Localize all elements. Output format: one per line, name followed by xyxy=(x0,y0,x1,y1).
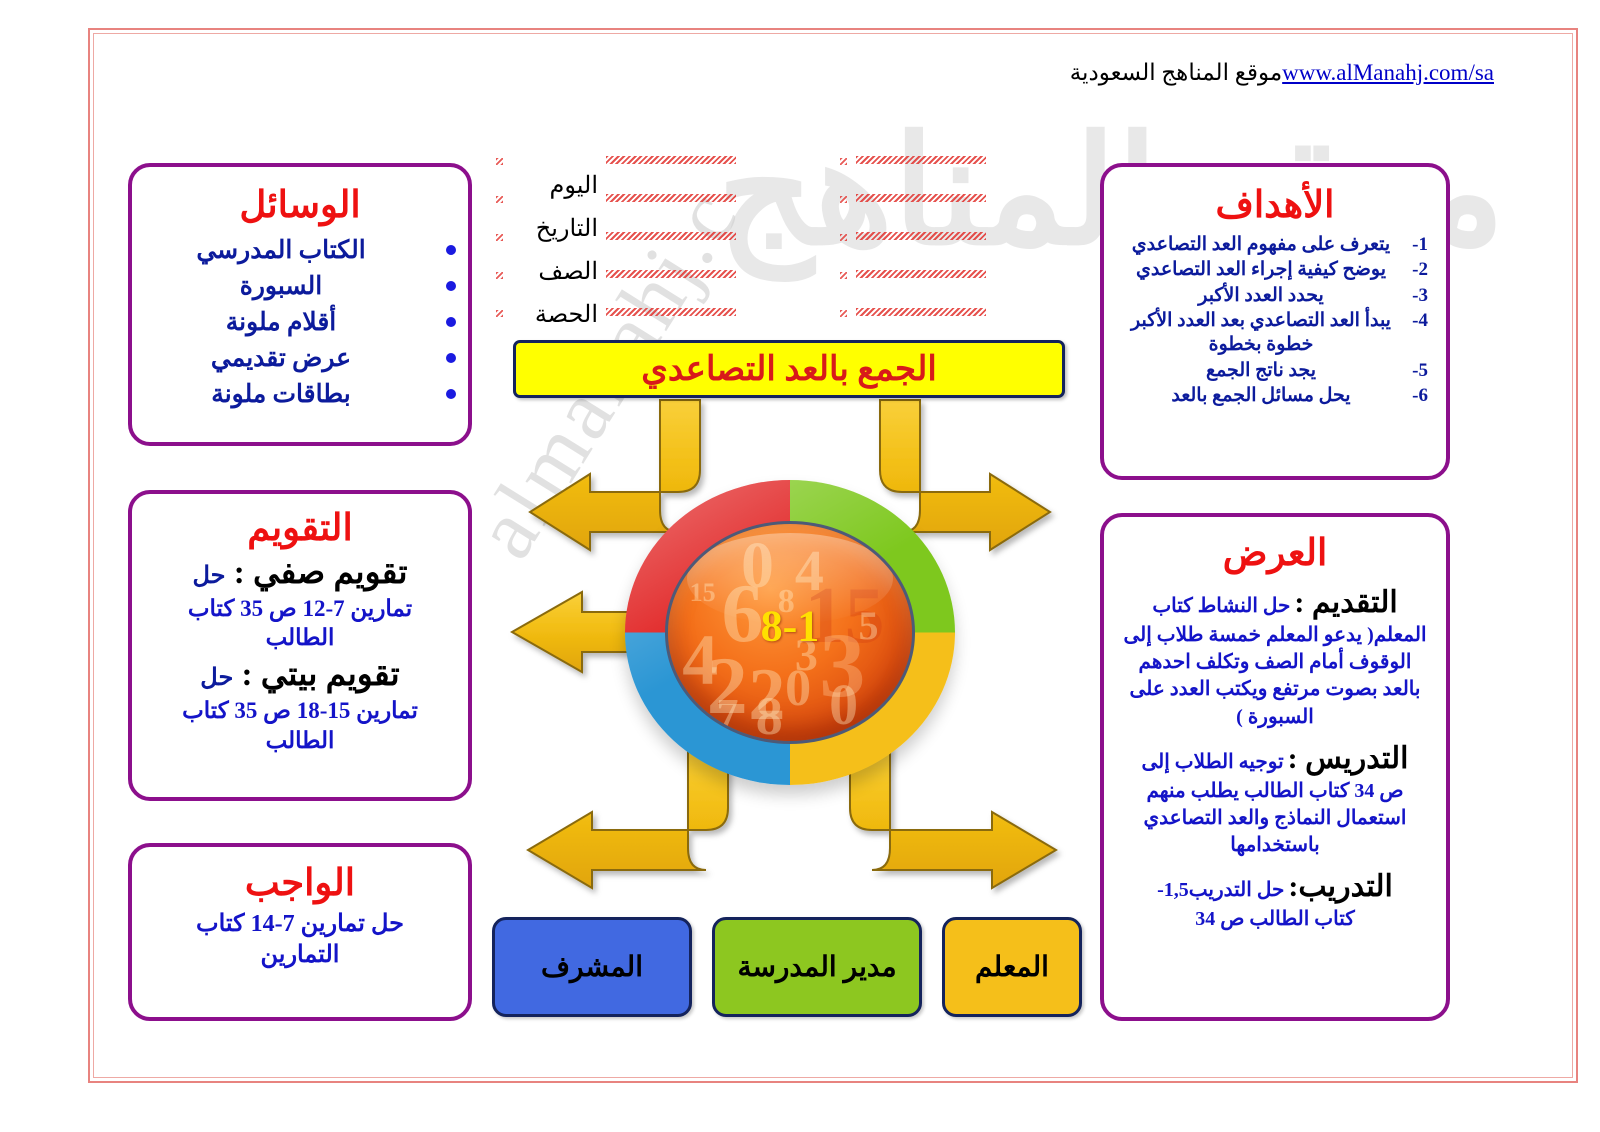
assessment-class-solve: حل xyxy=(192,563,225,589)
list-item: -2يوضح كيفية إجراء العد التصاعدي xyxy=(1126,258,1428,282)
assessment-class-detail: تمارين 7-12 ص 35 كتاب الطالب xyxy=(132,594,468,653)
objective-number: -5 xyxy=(1406,359,1428,383)
objective-number: -4 xyxy=(1406,309,1428,358)
objective-number: -6 xyxy=(1406,384,1428,408)
list-item: -5يجد ناتج الجمع xyxy=(1126,359,1428,383)
bullet-icon xyxy=(446,389,456,399)
objective-number: -1 xyxy=(1406,233,1428,257)
assessment-box: التقويم تقويم صفي : حل تمارين 7-12 ص 35 … xyxy=(128,490,472,801)
presentation-teaching-label: التدريس : xyxy=(1288,742,1409,775)
objective-text: يحدد العدد الأكبر xyxy=(1126,284,1396,308)
material-label: بطاقات ملونة xyxy=(211,381,350,408)
bullet-icon xyxy=(446,281,456,291)
presentation-title: العرض xyxy=(1104,531,1446,575)
list-item: السبورة xyxy=(132,269,430,305)
objective-text: يتعرف على مفهوم العد التصاعدي xyxy=(1126,233,1396,257)
lesson-form-labels: اليوم التاريخ الصف الحصة xyxy=(535,165,598,337)
presentation-practice-label: التدريب: xyxy=(1288,870,1393,903)
form-label-date: التاريخ xyxy=(535,208,598,251)
bullet-icon xyxy=(446,317,456,327)
site-label: موقع المناهج السعودية xyxy=(1070,60,1282,85)
objectives-box: الأهداف -1يتعرف على مفهوم العد التصاعدي … xyxy=(1100,163,1450,480)
presentation-teaching-value: توجيه الطلاب إلى xyxy=(1141,751,1283,773)
lesson-number-sphere: 0 4 15 6 8 15 4 3 2 2 0 3 8 7 0 5 8-1 xyxy=(625,480,955,785)
signature-supervisor-label: المشرف xyxy=(541,950,643,984)
list-item: -6يحل مسائل الجمع بالعد xyxy=(1126,384,1428,408)
objective-number: -2 xyxy=(1406,258,1428,282)
signature-principal[interactable]: مدير المدرسة xyxy=(712,917,922,1017)
bullet-icon xyxy=(446,245,456,255)
presentation-intro-body: المعلم( يدعو المعلم خمسة طلاب إلى الوقوف… xyxy=(1120,622,1430,731)
objective-number: -3 xyxy=(1406,284,1428,308)
assessment-class-label: تقويم صفي : xyxy=(234,555,408,591)
material-label: عرض تقديمي xyxy=(211,345,351,372)
list-item: الكتاب المدرسي xyxy=(132,233,430,269)
form-label-grade: الصف xyxy=(535,251,598,294)
sphere-lesson-number: 8-1 xyxy=(668,600,913,651)
presentation-teaching-body: ص 34 كتاب الطالب يطلب منهم استعمال النما… xyxy=(1120,778,1430,860)
list-item: عرض تقديمي xyxy=(132,341,430,377)
presentation-teaching: التدريس : توجيه الطلاب إلى ص 34 كتاب الط… xyxy=(1104,741,1446,860)
sphere-core: 0 4 15 6 8 15 4 3 2 2 0 3 8 7 0 5 8-1 xyxy=(665,521,916,744)
assessment-home-label: تقويم بيتي : xyxy=(242,657,400,693)
site-header: www.alManahj.com/saموقع المناهج السعودية xyxy=(1070,60,1500,86)
form-label-period: الحصة xyxy=(535,294,598,337)
assessment-home-heading: تقويم بيتي : حل xyxy=(132,656,468,696)
presentation-practice-value: حل التدريب1,5- xyxy=(1157,879,1284,901)
objective-text: يحل مسائل الجمع بالعد xyxy=(1126,384,1396,408)
presentation-practice-body: كتاب الطالب ص 34 xyxy=(1120,906,1430,933)
signature-teacher-label: المعلم xyxy=(975,950,1049,984)
presentation-intro-value: حل النشاط كتاب xyxy=(1152,595,1290,617)
site-url-link[interactable]: www.alManahj.com/sa xyxy=(1282,60,1494,86)
lesson-title-text: الجمع بالعد التصاعدي xyxy=(641,349,937,389)
lesson-title-banner: الجمع بالعد التصاعدي xyxy=(513,340,1065,398)
material-label: أقلام ملونة xyxy=(226,309,337,336)
objective-text: يجد ناتج الجمع xyxy=(1126,359,1396,383)
assessment-class: تقويم صفي : حل تمارين 7-12 ص 35 كتاب الط… xyxy=(132,554,468,652)
list-item: -4يبدأ العد التصاعدي بعد العدد الأكبر خط… xyxy=(1126,309,1428,358)
presentation-practice: التدريب: حل التدريب1,5- كتاب الطالب ص 34 xyxy=(1104,869,1446,933)
list-item: -1يتعرف على مفهوم العد التصاعدي xyxy=(1126,233,1428,257)
form-label-day: اليوم xyxy=(535,165,598,208)
objectives-list: -1يتعرف على مفهوم العد التصاعدي -2يوضح ك… xyxy=(1104,233,1446,408)
assessment-title: التقويم xyxy=(132,506,468,550)
material-label: السبورة xyxy=(240,273,323,300)
presentation-box: العرض التقديم : حل النشاط كتاب المعلم( ي… xyxy=(1100,513,1450,1021)
list-item: بطاقات ملونة xyxy=(132,377,430,413)
homework-body: حل تمارين 7-14 كتاب التمارين xyxy=(132,905,468,971)
materials-box: الوسائل الكتاب المدرسي السبورة أقلام ملو… xyxy=(128,163,472,446)
signature-principal-label: مدير المدرسة xyxy=(737,950,896,984)
bullet-icon xyxy=(446,353,456,363)
presentation-intro: التقديم : حل النشاط كتاب المعلم( يدعو ال… xyxy=(1104,585,1446,731)
objectives-title: الأهداف xyxy=(1104,183,1446,227)
assessment-home-detail: تمارين 15-18 ص 35 كتاب الطالب xyxy=(132,696,468,755)
objective-text: يوضح كيفية إجراء العد التصاعدي xyxy=(1126,258,1396,282)
materials-list: الكتاب المدرسي السبورة أقلام ملونة عرض ت… xyxy=(132,233,468,413)
homework-title: الواجب xyxy=(132,861,468,905)
assessment-class-heading: تقويم صفي : حل xyxy=(132,554,468,594)
assessment-home: تقويم بيتي : حل تمارين 15-18 ص 35 كتاب ا… xyxy=(132,656,468,754)
materials-title: الوسائل xyxy=(132,183,468,227)
signature-teacher[interactable]: المعلم xyxy=(942,917,1082,1017)
homework-box: الواجب حل تمارين 7-14 كتاب التمارين xyxy=(128,843,472,1021)
list-item: أقلام ملونة xyxy=(132,305,430,341)
material-label: الكتاب المدرسي xyxy=(196,237,365,264)
presentation-intro-label: التقديم : xyxy=(1294,586,1397,619)
objective-text: يبدأ العد التصاعدي بعد العدد الأكبر خطوة… xyxy=(1126,309,1396,358)
assessment-home-solve: حل xyxy=(200,665,233,691)
signature-supervisor[interactable]: المشرف xyxy=(492,917,692,1017)
list-item: -3يحدد العدد الأكبر xyxy=(1126,284,1428,308)
